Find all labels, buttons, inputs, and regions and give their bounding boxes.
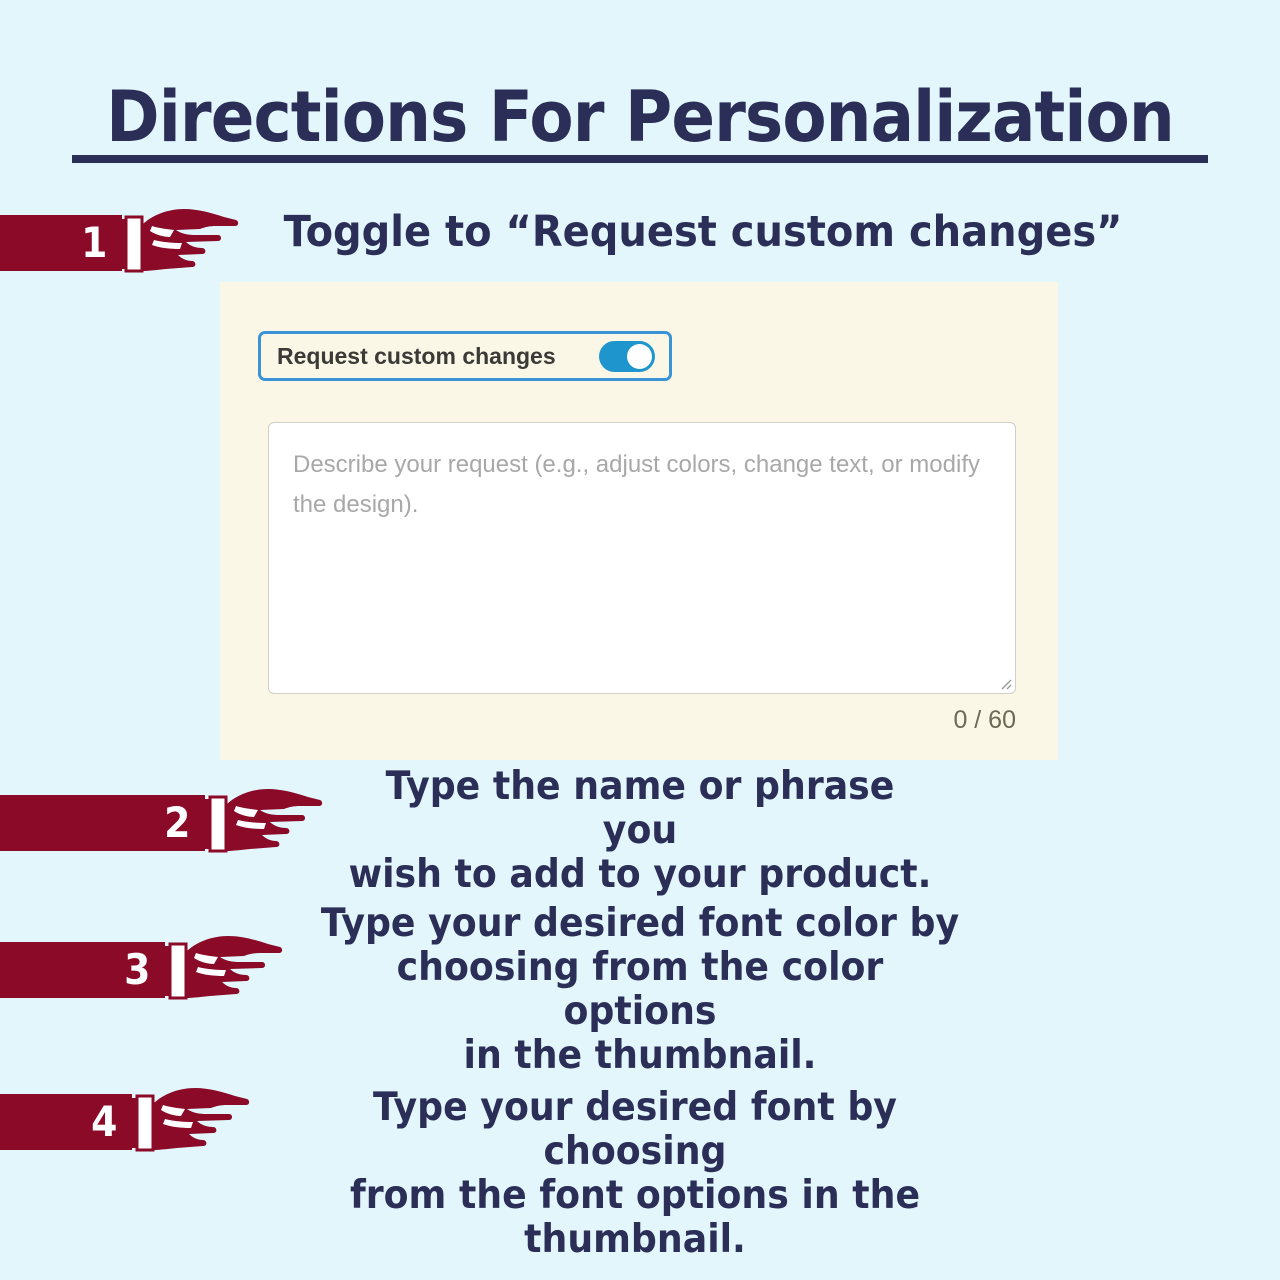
toggle-knob xyxy=(627,344,652,369)
request-custom-changes-toggle-row[interactable]: Request custom changes xyxy=(258,331,672,381)
character-counter: 0 / 60 xyxy=(268,706,1016,735)
toggle-label: Request custom changes xyxy=(277,343,599,370)
step-text-3: Type your desired font color by choosing… xyxy=(315,902,966,1078)
step-number-bar-4: 4 xyxy=(0,1094,132,1150)
pointing-hand-icon xyxy=(112,201,240,290)
title-underline xyxy=(72,155,1208,163)
pointing-hand-icon xyxy=(196,781,324,870)
step-text-2: Type the name or phrase you wish to add … xyxy=(342,765,937,897)
step-text-1: Toggle to “Request custom changes” xyxy=(284,208,1177,257)
step-text-4: Type your desired font by choosing from … xyxy=(282,1086,989,1262)
step-number-bar-2: 2 xyxy=(0,795,205,851)
toggle-switch[interactable] xyxy=(599,341,655,372)
page-title: Directions For Personalization xyxy=(51,82,1229,152)
step-number-bar-1: 1 xyxy=(0,215,122,271)
pointing-hand-icon xyxy=(156,928,284,1017)
pointing-hand-icon xyxy=(123,1080,251,1169)
product-options-card: Request custom changes Describe your req… xyxy=(220,282,1058,760)
request-textarea[interactable]: Describe your request (e.g., adjust colo… xyxy=(268,422,1016,694)
request-textarea-placeholder: Describe your request (e.g., adjust colo… xyxy=(293,445,991,526)
resize-grip-icon[interactable] xyxy=(996,674,1012,690)
step-number-bar-3: 3 xyxy=(0,942,165,998)
